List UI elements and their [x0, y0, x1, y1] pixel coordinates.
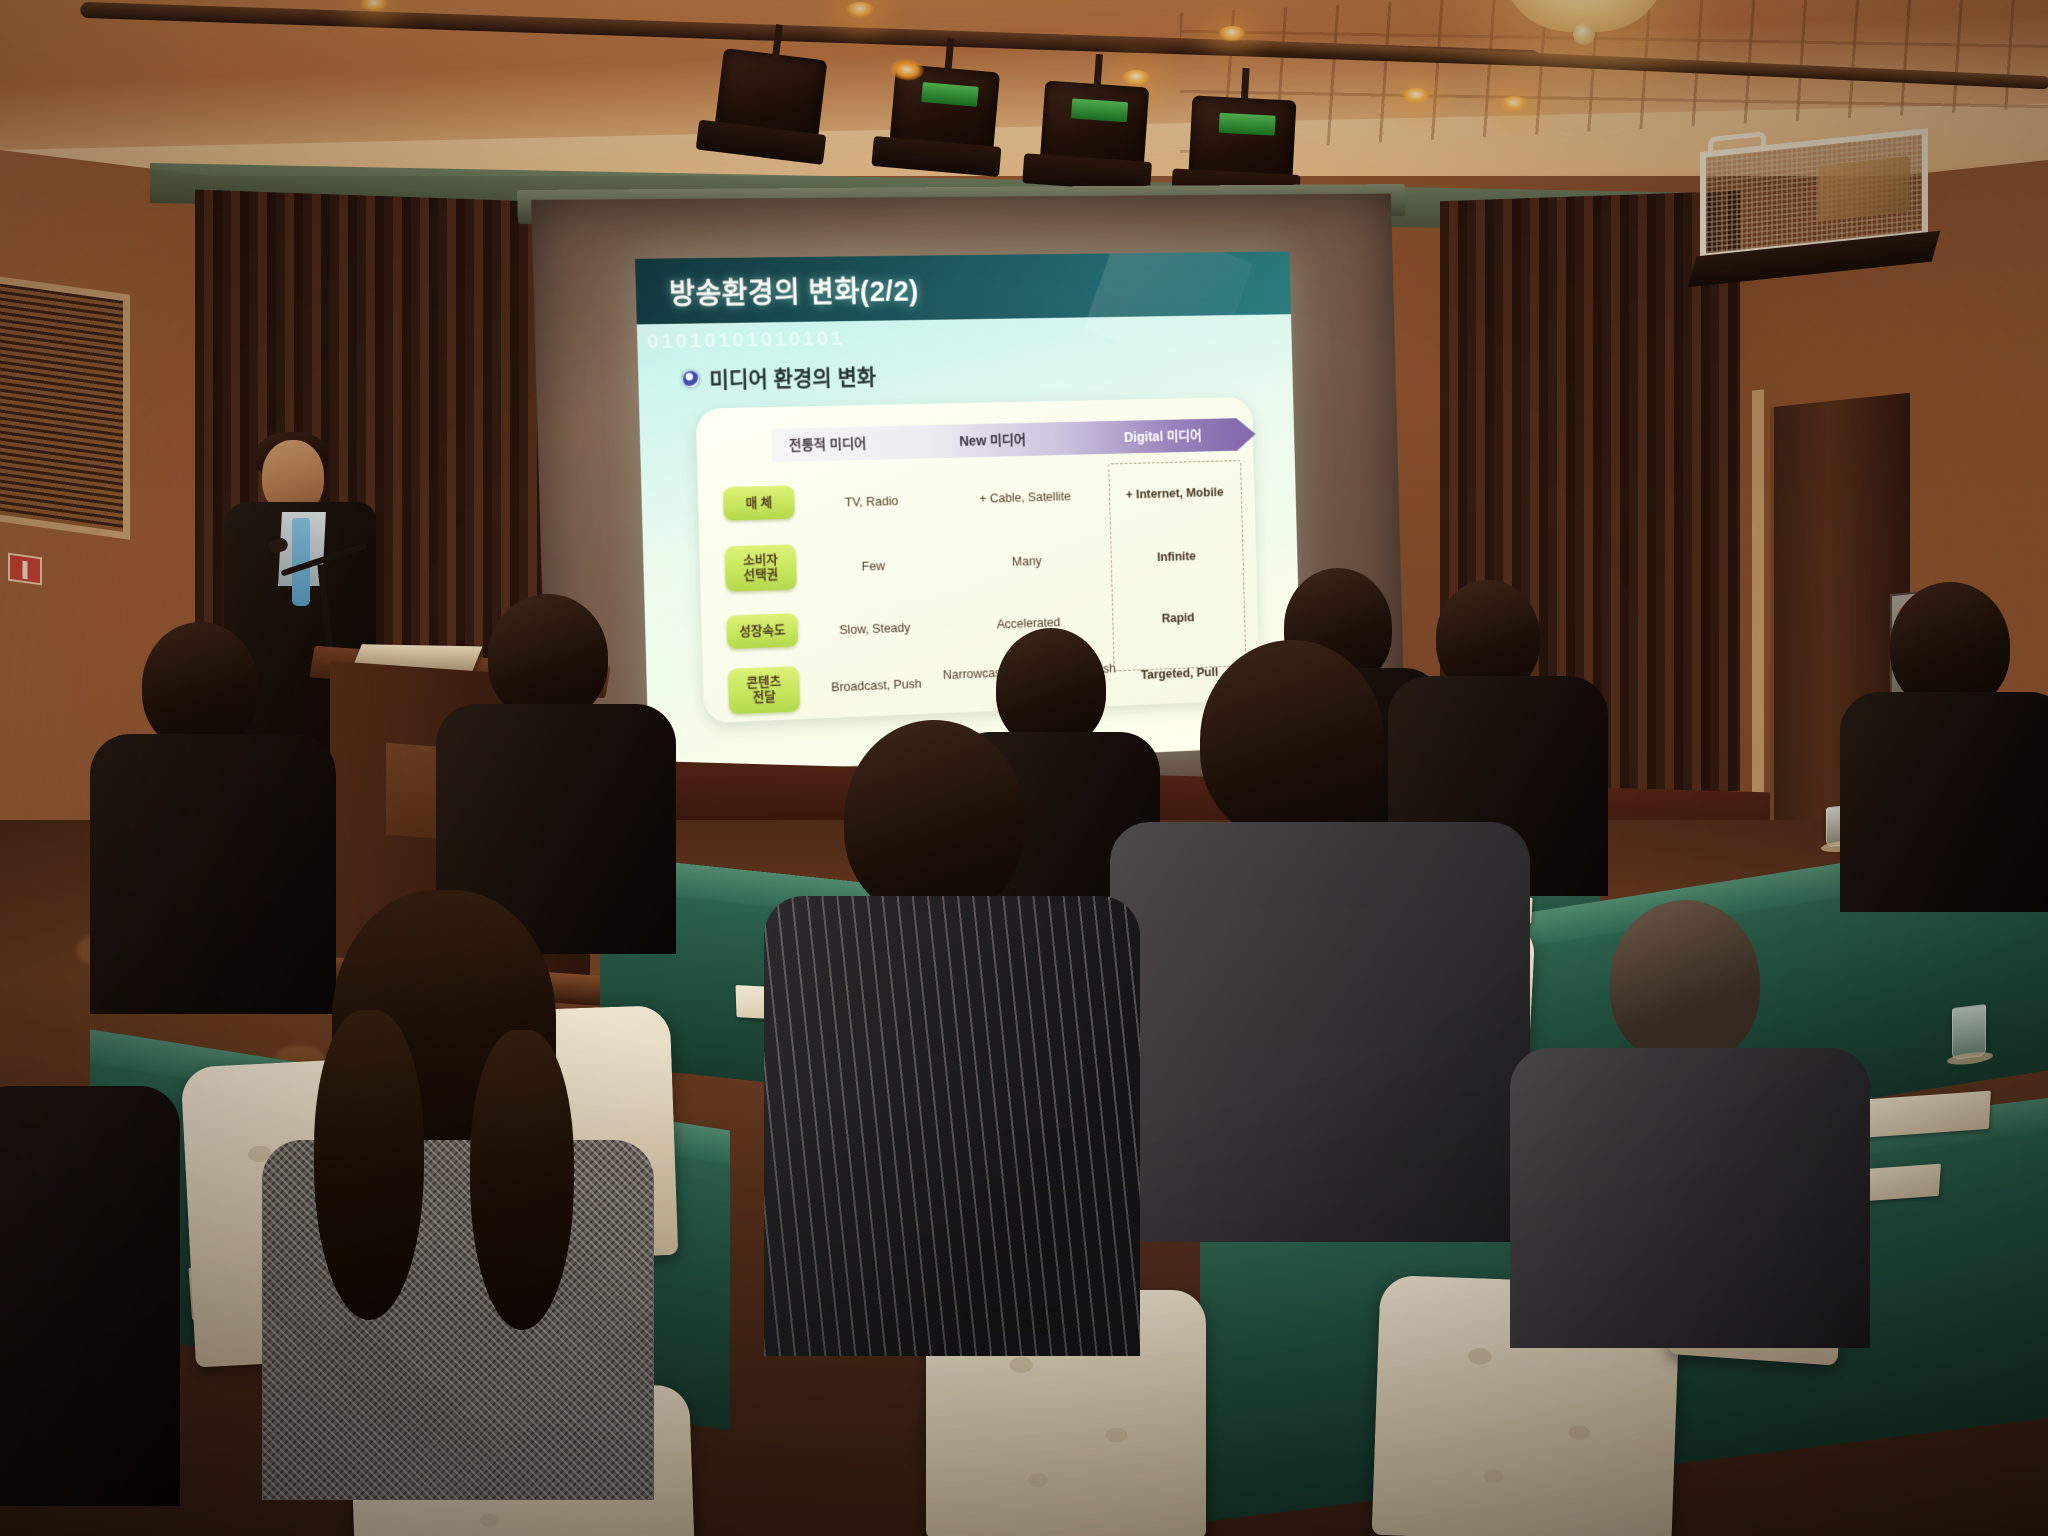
- ceiling-pot-light-3: [1122, 70, 1150, 86]
- cell-new: Accelerated: [940, 612, 1117, 635]
- attendee-hair-strands: [470, 1030, 574, 1330]
- slide-bullet-text: 미디어 환경의 변화: [709, 360, 876, 395]
- attendee-head: [488, 594, 608, 720]
- attendee-head: [1200, 640, 1384, 840]
- cell-traditional: Slow, Steady: [805, 618, 944, 640]
- row-tag-growth-speed: 성장속도: [726, 613, 798, 649]
- attendee-body: [1840, 692, 2048, 912]
- conference-room-photo: 방송환경의 변화(2/2) 01010101010101 미디어 환경의 변화 …: [0, 0, 2048, 1536]
- ceiling-pot-light-2: [846, 2, 874, 18]
- ceiling-mounted-projector-cage: [1700, 128, 1928, 260]
- attendee-body: [1110, 822, 1530, 1242]
- row-tag-consumer-choice: 소비자 선택권: [725, 544, 797, 592]
- row-tag-content-delivery: 콘텐츠 전달: [728, 666, 800, 714]
- slide-title: 방송환경의 변화(2/2): [669, 268, 920, 313]
- projector-lens-icon: [1818, 156, 1910, 222]
- ceiling-pot-light-5: [1402, 88, 1430, 104]
- column-header-new: New 미디어: [959, 430, 1026, 451]
- cell-new: Many: [938, 550, 1115, 573]
- spotlight-green-gel: [1219, 113, 1276, 136]
- slide-bullet: 미디어 환경의 변화: [683, 360, 877, 395]
- cell-traditional: Broadcast, Push: [807, 674, 946, 697]
- cell-digital: Infinite: [1112, 546, 1240, 567]
- attendee-body: [1510, 1048, 1870, 1348]
- stage-spotlight-1: [713, 48, 828, 156]
- bullet-dot-icon: [683, 371, 699, 387]
- column-header-digital: Digital 미디어: [1124, 426, 1202, 447]
- cell-new: + Cable, Satellite: [936, 486, 1113, 508]
- row-tag-line-2: 선택권: [743, 567, 778, 583]
- ceiling-pot-light-6: [1500, 96, 1528, 112]
- attendee-head: [1610, 900, 1760, 1064]
- water-glass[interactable]: [1952, 1004, 1986, 1060]
- stage-spotlight-3: [1039, 80, 1149, 183]
- projected-slide: 방송환경의 변화(2/2) 01010101010101 미디어 환경의 변화 …: [635, 251, 1302, 775]
- attendee-head: [1890, 582, 2010, 710]
- ceiling-pot-light-4: [1218, 26, 1246, 42]
- air-vent-grille: [0, 275, 130, 540]
- row-tag-line-2: 전달: [753, 690, 776, 706]
- spotlight-green-gel: [1071, 98, 1128, 122]
- fire-safety-sign: [8, 553, 42, 586]
- attendee-body: [90, 734, 336, 1014]
- attendee-body: [0, 1086, 180, 1506]
- stage-spotlight-2: [888, 64, 1000, 169]
- row-tag-media: 매 체: [723, 485, 795, 520]
- dome-light-finial-icon: [1573, 23, 1595, 45]
- attendee-head: [996, 628, 1106, 748]
- attendee-head: [844, 720, 1024, 918]
- slide-binary-watermark: 01010101010101: [647, 327, 845, 354]
- slide-column-header: 전통적 미디어 New 미디어 Digital 미디어: [771, 418, 1237, 462]
- column-header-traditional: 전통적 미디어: [789, 433, 867, 454]
- stage-spotlight-4: [1188, 95, 1297, 196]
- attendee-hair-strands: [314, 1010, 424, 1320]
- cell-traditional: TV, Radio: [802, 491, 941, 512]
- cell-digital: Rapid: [1114, 607, 1242, 628]
- attendee-body: [764, 896, 1140, 1356]
- cell-digital: + Internet, Mobile: [1111, 483, 1239, 503]
- attendee-head: [142, 622, 258, 750]
- slide-comparison-panel: 전통적 미디어 New 미디어 Digital 미디어 매 체 TV, Radi…: [696, 397, 1260, 723]
- cell-traditional: Few: [804, 555, 943, 577]
